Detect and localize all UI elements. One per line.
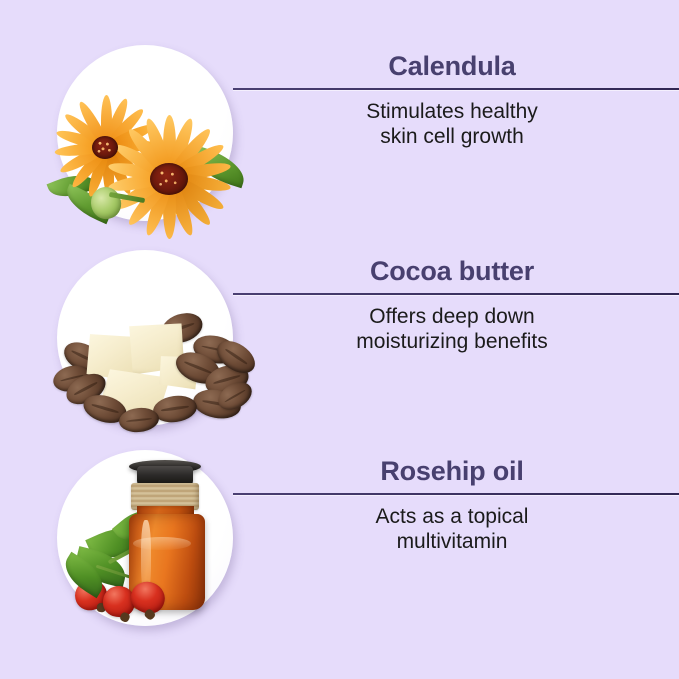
title-divider bbox=[233, 88, 679, 90]
calendula-image-stage bbox=[57, 45, 233, 221]
calendula-flower-center bbox=[92, 136, 118, 159]
ingredient-title: Cocoa butter bbox=[233, 257, 679, 287]
cocoa-butter-text-block: Cocoa butter Offers deep down moisturizi… bbox=[233, 257, 679, 355]
rosehip-oil-text-block: Rosehip oil Acts as a topical multivitam… bbox=[233, 457, 679, 555]
ingredient-description: Offers deep down moisturizing benefits bbox=[233, 304, 679, 355]
ingredient-description: Acts as a topical multivitamin bbox=[233, 504, 679, 555]
rosehip-oil-photo bbox=[57, 450, 233, 626]
ingredient-description: Stimulates healthy skin cell growth bbox=[233, 99, 679, 150]
ingredient-section-calendula: Calendula Stimulates healthy skin cell g… bbox=[0, 0, 679, 240]
calendula-text-block: Calendula Stimulates healthy skin cell g… bbox=[233, 52, 679, 150]
calendula-flower-center bbox=[150, 163, 188, 195]
ingredient-section-rosehip-oil: Rosehip oil Acts as a topical multivitam… bbox=[0, 405, 679, 655]
rosehip-oil-image-stage bbox=[57, 450, 233, 626]
title-divider bbox=[233, 493, 679, 495]
ingredient-title: Rosehip oil bbox=[233, 457, 679, 487]
cocoa-butter-photo bbox=[57, 250, 233, 426]
title-divider bbox=[233, 293, 679, 295]
calendula-flowers-photo bbox=[57, 45, 233, 221]
cocoa-butter-image-stage bbox=[57, 250, 233, 426]
ingredient-title: Calendula bbox=[233, 52, 679, 82]
ingredients-infographic: Calendula Stimulates healthy skin cell g… bbox=[0, 0, 679, 679]
